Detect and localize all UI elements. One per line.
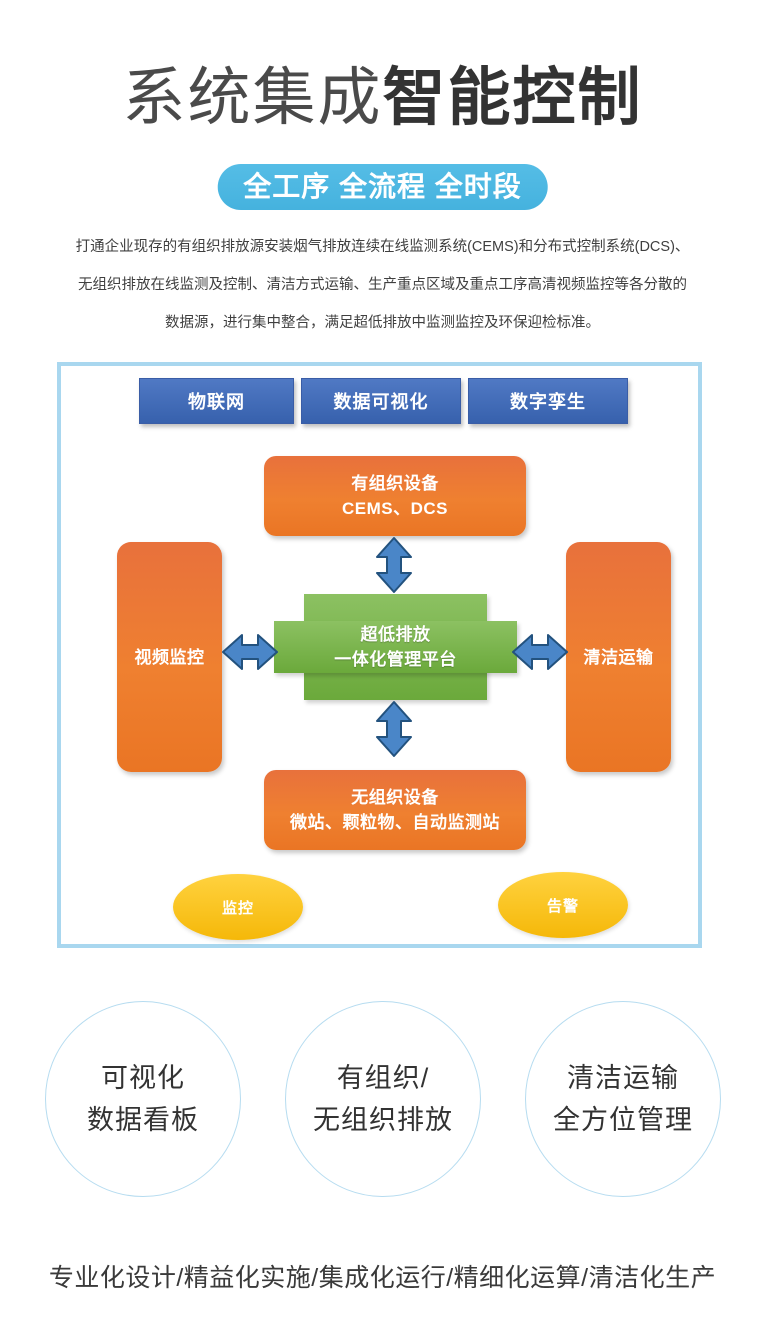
- organized-equipment-line-2: CEMS、DCS: [342, 496, 448, 521]
- double-arrow-vertical-top-icon: [368, 536, 420, 594]
- central-platform-label: 超低排放 一体化管理平台: [274, 594, 517, 700]
- intro-line-3: 数据源，进行集中整合，满足超低排放中监测监控及环保迎检标准。: [52, 304, 713, 342]
- unorganized-equipment-line-2: 微站、颗粒物、自动监测站: [290, 810, 500, 835]
- intro-line-2: 无组织排放在线监测及控制、清洁方式运输、生产重点区域及重点工序高清视频监控等各分…: [52, 266, 713, 304]
- diagram-node-digital-twin: 数字孪生: [468, 378, 628, 424]
- double-arrow-horizontal-left-icon: [221, 631, 279, 673]
- feature-3-line-2: 全方位管理: [553, 1099, 693, 1141]
- central-platform-line-1: 超低排放: [361, 622, 431, 647]
- page-title-light: 系统集成: [123, 63, 383, 133]
- feature-2-line-2: 无组织排放: [313, 1099, 453, 1141]
- diagram-node-alarm: 告警: [498, 872, 628, 938]
- unorganized-equipment-line-1: 无组织设备: [290, 785, 500, 810]
- feature-circle-clean-transport: 清洁运输 全方位管理: [525, 1001, 721, 1197]
- feature-1-line-1: 可视化: [101, 1057, 185, 1099]
- double-arrow-vertical-bottom-icon: [368, 700, 420, 758]
- feature-circle-visualization: 可视化 数据看板: [45, 1001, 241, 1197]
- central-platform-line-2: 一体化管理平台: [334, 647, 457, 672]
- diagram-node-unorganized-equipment: 无组织设备 微站、颗粒物、自动监测站: [264, 770, 526, 850]
- organized-equipment-line-1: 有组织设备: [342, 471, 448, 496]
- diagram-node-data-visualization: 数据可视化: [301, 378, 461, 424]
- diagram-node-organized-equipment: 有组织设备 CEMS、DCS: [264, 456, 526, 536]
- feature-2-line-1: 有组织/: [337, 1057, 430, 1099]
- feature-1-line-2: 数据看板: [87, 1099, 199, 1141]
- feature-3-line-1: 清洁运输: [567, 1057, 679, 1099]
- page-title: 系统集成智能控制: [0, 58, 765, 138]
- double-arrow-horizontal-right-icon: [511, 631, 569, 673]
- diagram-node-monitoring: 监控: [173, 874, 303, 940]
- intro-line-1: 打通企业现存的有组织排放源安装烟气排放连续在线监测系统(CEMS)和分布式控制系…: [52, 228, 713, 266]
- feature-circle-emissions: 有组织/ 无组织排放: [285, 1001, 481, 1197]
- architecture-diagram: 物联网 数据可视化 数字孪生 有组织设备 CEMS、DCS 无组织设备 微站、颗…: [57, 362, 702, 948]
- intro-paragraph: 打通企业现存的有组织排放源安装烟气排放连续在线监测系统(CEMS)和分布式控制系…: [52, 228, 713, 342]
- feature-circle-list: 可视化 数据看板 有组织/ 无组织排放 清洁运输 全方位管理: [0, 1001, 765, 1201]
- diagram-node-video-surveillance: 视频监控: [117, 542, 222, 772]
- diagram-node-clean-transport: 清洁运输: [566, 542, 671, 772]
- diagram-node-central-platform: 超低排放 一体化管理平台: [274, 594, 517, 700]
- page-title-bold: 智能控制: [383, 63, 643, 133]
- subtitle-badge: 全工序 全流程 全时段: [217, 164, 548, 210]
- diagram-node-iot: 物联网: [139, 378, 294, 424]
- footer-tagline: 专业化设计/精益化实施/集成化运行/精细化运算/清洁化生产: [0, 1258, 765, 1294]
